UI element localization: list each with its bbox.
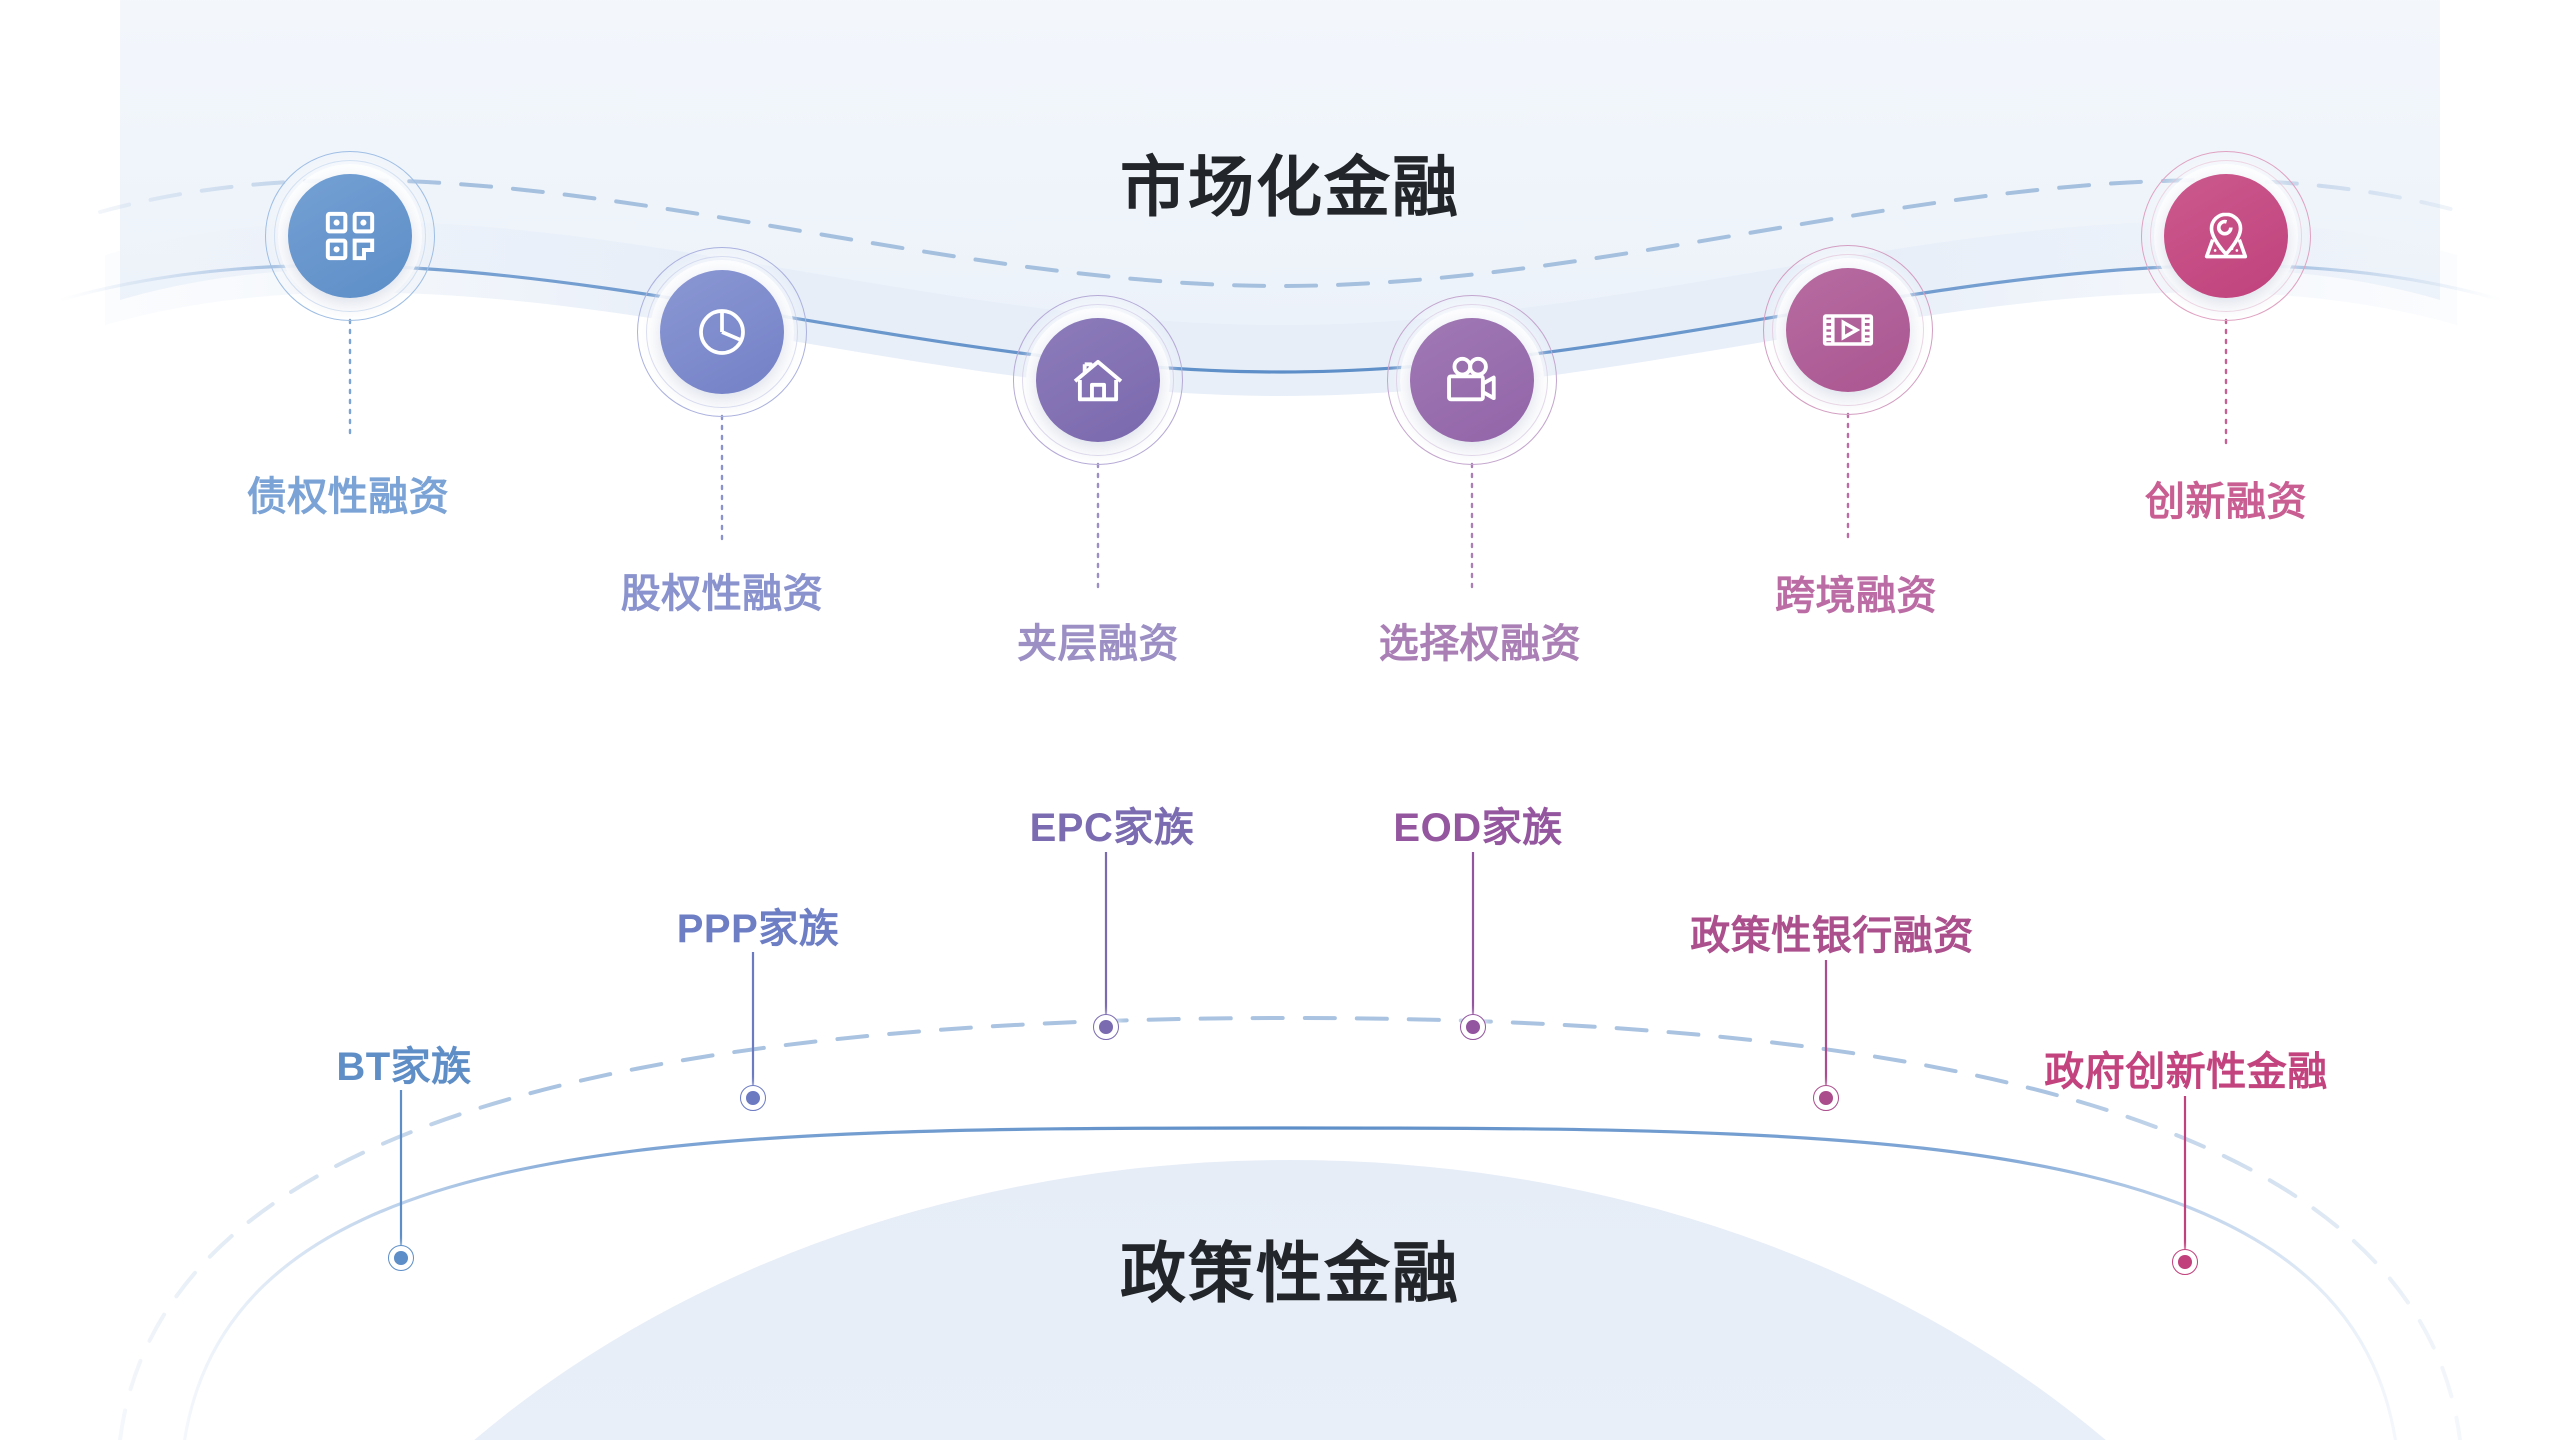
pie-chart-icon <box>660 270 784 394</box>
qr-code-icon <box>288 174 412 298</box>
film-play-icon <box>1786 268 1910 392</box>
bottom-node-label-2: PPP家族 <box>677 896 840 954</box>
map-pin-icon <box>2164 174 2288 298</box>
dot-core <box>746 1091 760 1105</box>
bottom-node-dot-3[interactable] <box>1093 1014 1119 1040</box>
bottom-node-label-4: EOD家族 <box>1393 795 1562 853</box>
dot-core <box>394 1251 408 1265</box>
bottom-node-label-1: BT家族 <box>336 1034 471 1092</box>
top-node-6[interactable] <box>2139 149 2313 323</box>
bottom-node-dot-2[interactable] <box>740 1085 766 1111</box>
top-node-label-3: 夹层融资 <box>1017 611 1179 669</box>
bottom-node-label-3: EPC家族 <box>1030 795 1195 853</box>
bottom-node-label-5: 政策性银行融资 <box>1690 903 1974 961</box>
infographic-canvas: 市场化金融 政策性金融 <box>0 0 2560 1440</box>
bottom-node-dot-6[interactable] <box>2172 1249 2198 1275</box>
top-node-2[interactable] <box>635 245 809 419</box>
top-node-1[interactable] <box>263 149 437 323</box>
top-node-4[interactable] <box>1385 293 1559 467</box>
top-node-label-2: 股权性融资 <box>621 561 824 619</box>
bottom-node-dot-1[interactable] <box>388 1245 414 1271</box>
top-node-label-4: 选择权融资 <box>1379 611 1582 669</box>
bottom-node-label-6: 政府创新性金融 <box>2044 1039 2328 1097</box>
top-section-title: 市场化金融 <box>1120 134 1460 230</box>
bottom-node-dot-5[interactable] <box>1813 1085 1839 1111</box>
bottom-node-dot-4[interactable] <box>1460 1014 1486 1040</box>
top-node-label-6: 创新融资 <box>2145 469 2307 527</box>
house-icon <box>1036 318 1160 442</box>
dot-core <box>1466 1020 1480 1034</box>
movie-camera-icon <box>1410 318 1534 442</box>
top-node-5[interactable] <box>1761 243 1935 417</box>
dot-core <box>2178 1255 2192 1269</box>
top-node-3[interactable] <box>1011 293 1185 467</box>
top-node-label-1: 债权性融资 <box>247 464 450 522</box>
dot-core <box>1099 1020 1113 1034</box>
dot-core <box>1819 1091 1833 1105</box>
top-node-label-5: 跨境融资 <box>1775 563 1937 621</box>
bottom-section-title: 政策性金融 <box>1120 1220 1460 1316</box>
